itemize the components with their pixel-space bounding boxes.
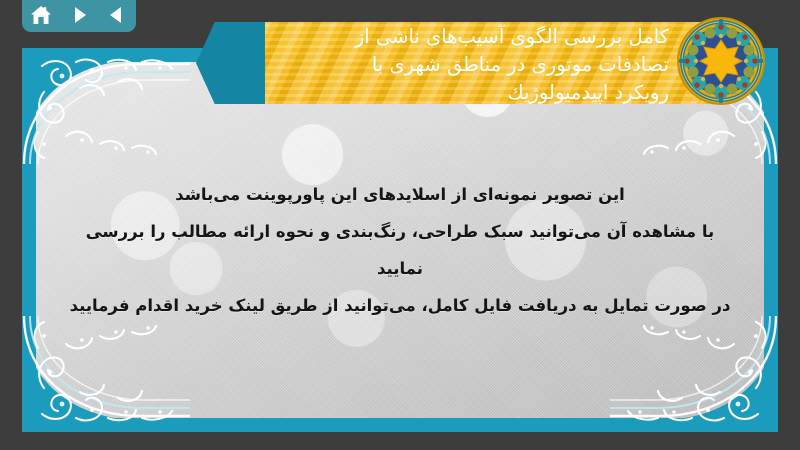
home-button[interactable]: [28, 3, 54, 27]
previous-slide-button[interactable]: [104, 3, 130, 27]
slide-title: کامل بررسی الگوی آسیب‌های ناشی از تصادفا…: [265, 22, 715, 104]
slide-navigation-bar: [22, 0, 136, 32]
persian-medallion-icon: [676, 16, 766, 106]
triangle-right-icon: [69, 5, 89, 25]
slide-body-text: این تصویر نمونه‌ای از اسلایدهای این پاور…: [62, 176, 738, 324]
next-slide-button[interactable]: [66, 3, 92, 27]
triangle-left-icon: [107, 5, 127, 25]
slide-canvas: این تصویر نمونه‌ای از اسلایدهای این پاور…: [22, 48, 778, 432]
slide-title-banner: کامل بررسی الگوی آسیب‌های ناشی از تصادفا…: [265, 22, 715, 104]
home-icon: [30, 5, 52, 26]
presentation-viewer: این تصویر نمونه‌ای از اسلایدهای این پاور…: [0, 0, 800, 450]
